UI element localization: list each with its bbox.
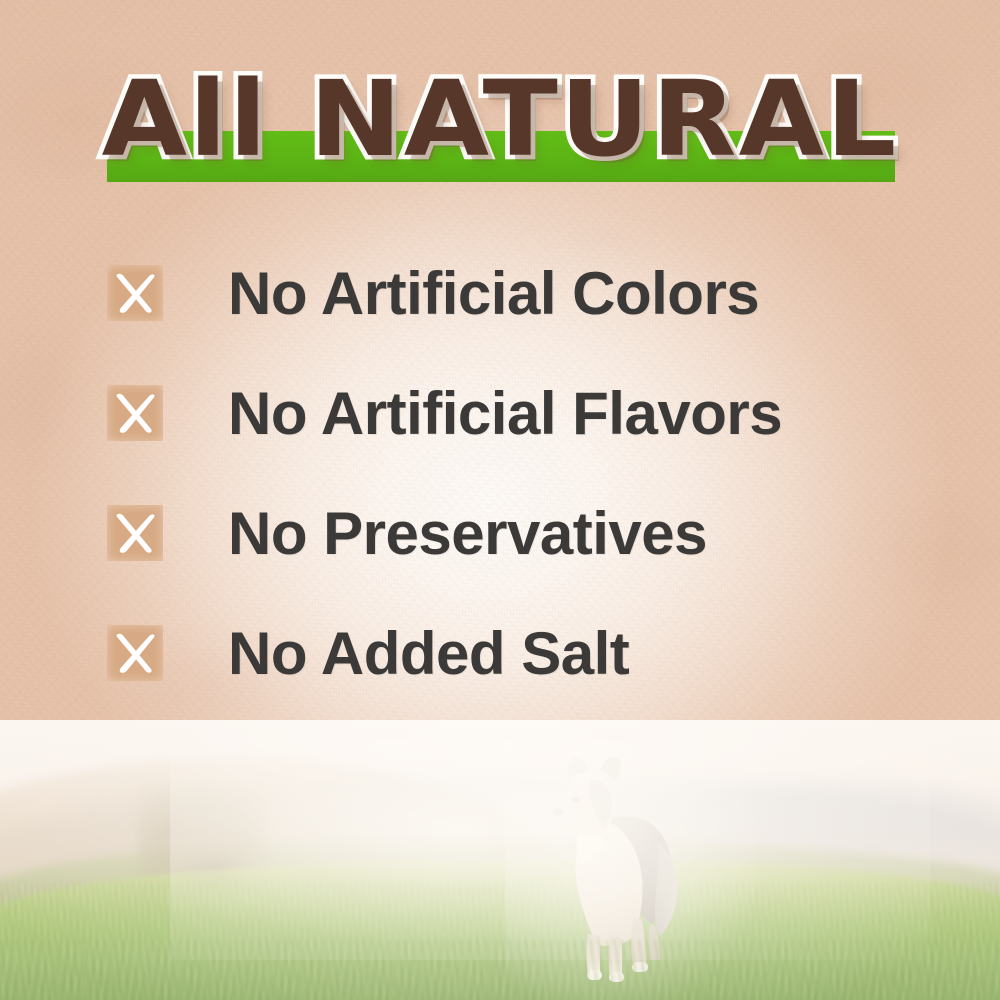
- list-item-label: No Artificial Flavors: [228, 372, 782, 456]
- list-item: No Preservatives: [107, 492, 947, 612]
- x-mark-icon: [107, 505, 163, 561]
- page-title: All NATURAL: [0, 62, 1000, 176]
- all-natural-product-feature-poster: All NATURAL No Artificial Colors No Arti…: [0, 0, 1000, 1000]
- list-item-label: No Preservatives: [228, 492, 707, 576]
- list-item: No Artificial Colors: [107, 252, 947, 372]
- grass-texture: [0, 882, 1000, 1000]
- list-item-label: No Added Salt: [228, 612, 629, 696]
- x-mark-icon: [107, 265, 163, 321]
- list-item: No Artificial Flavors: [107, 372, 947, 492]
- title-banner: All NATURAL: [0, 62, 1000, 192]
- x-mark-icon: [107, 625, 163, 681]
- dog-photo-subject: [530, 748, 720, 990]
- landscape-photo: [0, 720, 1000, 1000]
- list-item: No Added Salt: [107, 612, 947, 732]
- feature-list: No Artificial Colors No Artificial Flavo…: [107, 252, 947, 732]
- list-item-label: No Artificial Colors: [228, 252, 759, 336]
- x-mark-icon: [107, 385, 163, 441]
